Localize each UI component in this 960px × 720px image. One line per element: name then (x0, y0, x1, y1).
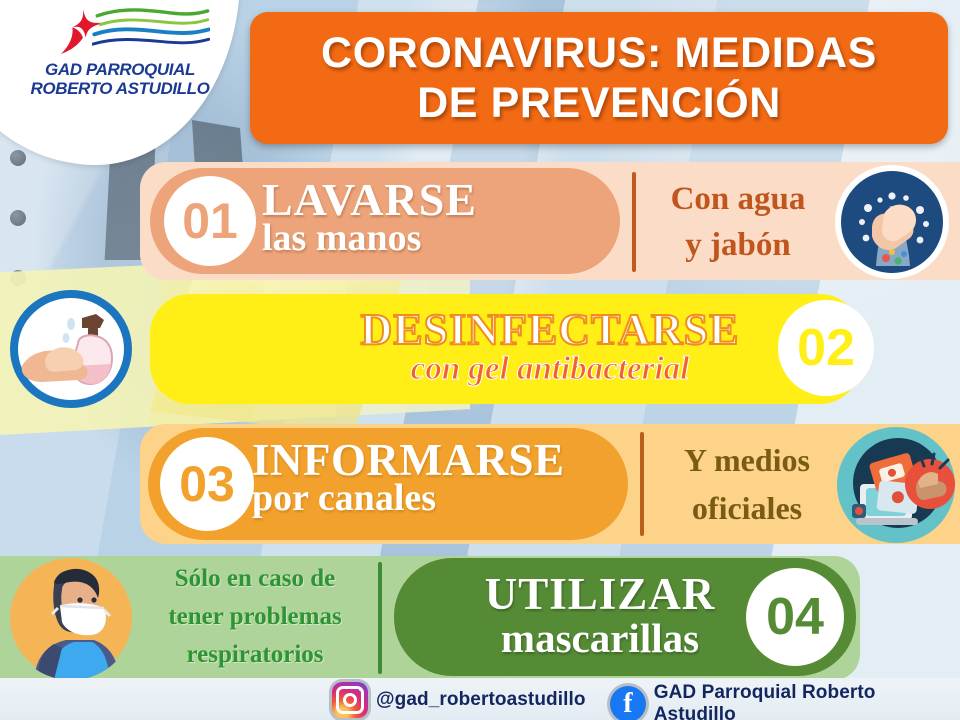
facebook-link[interactable]: f GAD Parroquial Roberto Astudillo (610, 682, 960, 720)
step-02-headline-top: DESINFECTARSE (320, 304, 780, 355)
step-02-headline-bottom: con gel antibacterial (320, 351, 780, 388)
step-03-headline: INFORMARSE por canales (252, 440, 565, 516)
step-04-divider (378, 562, 382, 674)
step-04-subtext-line2: tener problemas (140, 598, 370, 636)
step-01-pill: 01 LAVARSE las manos (150, 168, 620, 274)
step-01-headline-bottom: las manos (262, 221, 477, 256)
waves-icon (92, 8, 210, 52)
step-01-subtext-line2: y jabón (650, 222, 826, 268)
washing-hands-icon (832, 162, 952, 280)
step-04-headline: UTILIZAR mascarillas (450, 568, 750, 662)
step-03-subtext-line1: Y medios (656, 436, 838, 484)
title-banner: CORONAVIRUS: MEDIDAS DE PREVENCIÓN (250, 12, 948, 144)
step-03-subtext-line2: oficiales (656, 484, 838, 532)
step-01-divider (632, 172, 636, 272)
step-03-headline-top: INFORMARSE (252, 440, 565, 481)
step-03-headline-bottom: por canales (252, 481, 565, 516)
step-01-number: 01 (164, 176, 256, 266)
step-04-headline-top: UTILIZAR (450, 568, 750, 620)
instagram-link[interactable]: @gad_robertoastudillo (332, 682, 586, 718)
infographic-poster: GAD PARROQUIAL ROBERTO ASTUDILLO CORONAV… (0, 0, 960, 720)
step-04-subtext-line1: Sólo en caso de (140, 560, 370, 598)
step-04-subtext-line3: respiratorios (140, 636, 370, 674)
step-04-headline-bottom: mascarillas (450, 614, 750, 662)
instagram-icon (332, 682, 368, 718)
facebook-icon: f (610, 686, 646, 720)
person-with-mask-icon (8, 556, 134, 680)
title-line-2: DE PREVENCIÓN (417, 78, 781, 128)
step-01-headline-top: LAVARSE (262, 179, 477, 221)
brand-logo: GAD PARROQUIAL ROBERTO ASTUDILLO (20, 6, 220, 98)
step-03-subtext: Y medios oficiales (656, 436, 838, 532)
logo-text-line1: GAD PARROQUIAL (20, 60, 220, 79)
step-03-number: 03 (160, 437, 254, 531)
step-03-pill: 03 INFORMARSE por canales (148, 428, 628, 540)
instagram-handle: @gad_robertoastudillo (376, 689, 586, 711)
step-01-subtext-line1: Con agua (650, 176, 826, 222)
hand-sanitizer-icon (8, 288, 134, 410)
footer-bar: @gad_robertoastudillo f GAD Parroquial R… (0, 678, 960, 720)
facebook-page: GAD Parroquial Roberto Astudillo (654, 682, 960, 720)
step-04-pill: UTILIZAR mascarillas 04 (394, 558, 856, 676)
logo-mark (20, 6, 220, 58)
step-03-divider (640, 432, 644, 536)
step-01-subtext: Con agua y jabón (650, 176, 826, 268)
logo-text-line2: ROBERTO ASTUDILLO (20, 79, 220, 98)
title-line-1: CORONAVIRUS: MEDIDAS (321, 28, 877, 78)
step-01-headline: LAVARSE las manos (262, 179, 477, 256)
step-02-number: 02 (778, 300, 874, 396)
step-04-subtext: Sólo en caso de tener problemas respirat… (140, 560, 370, 674)
step-02-pill: DESINFECTARSE con gel antibacterial 02 (150, 294, 860, 404)
step-02-headline: DESINFECTARSE con gel antibacterial (320, 304, 780, 388)
step-04-number: 04 (746, 568, 844, 666)
official-media-icon (836, 426, 956, 544)
